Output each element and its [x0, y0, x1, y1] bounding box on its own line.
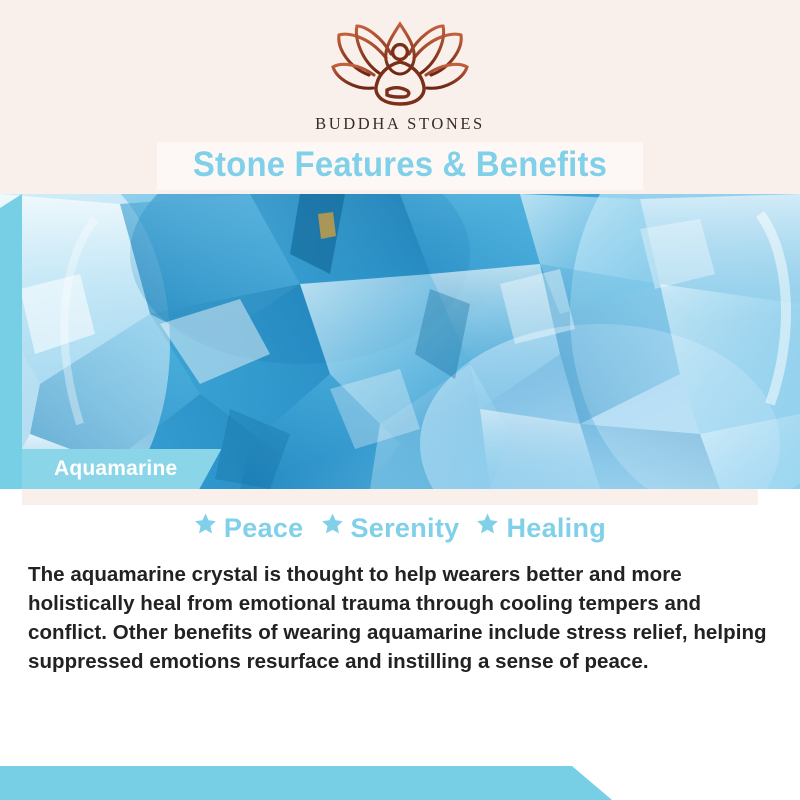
stone-info-poster: BUDDHA STONES Stone Features & Benefits: [0, 0, 800, 800]
description-text: The aquamarine crystal is thought to hel…: [28, 560, 768, 676]
stone-label: Aquamarine: [54, 457, 177, 481]
keyword-serenity: Serenity: [351, 513, 460, 544]
keyword-healing: Healing: [506, 513, 606, 544]
keyword-list: Peace Serenity Healing: [0, 512, 800, 544]
star-icon: [321, 511, 344, 542]
star-icon: [194, 511, 217, 542]
stone-label-banner: Aquamarine: [22, 449, 221, 489]
brand-logo: BUDDHA STONES: [0, 18, 800, 134]
brand-name: BUDDHA STONES: [0, 114, 800, 134]
crystal-illustration: [0, 194, 800, 489]
lotus-meditation-icon: [325, 18, 475, 110]
page-title: Stone Features & Benefits: [24, 141, 776, 189]
stone-photo: Aquamarine: [0, 194, 800, 489]
body-top-strip: [22, 489, 758, 505]
bottom-accent-bar: [0, 766, 612, 800]
body-section: Peace Serenity Healing The aquamarine cr…: [0, 489, 800, 800]
star-icon: [476, 511, 499, 542]
header: BUDDHA STONES Stone Features & Benefits: [0, 0, 800, 194]
keyword-peace: Peace: [224, 513, 304, 544]
